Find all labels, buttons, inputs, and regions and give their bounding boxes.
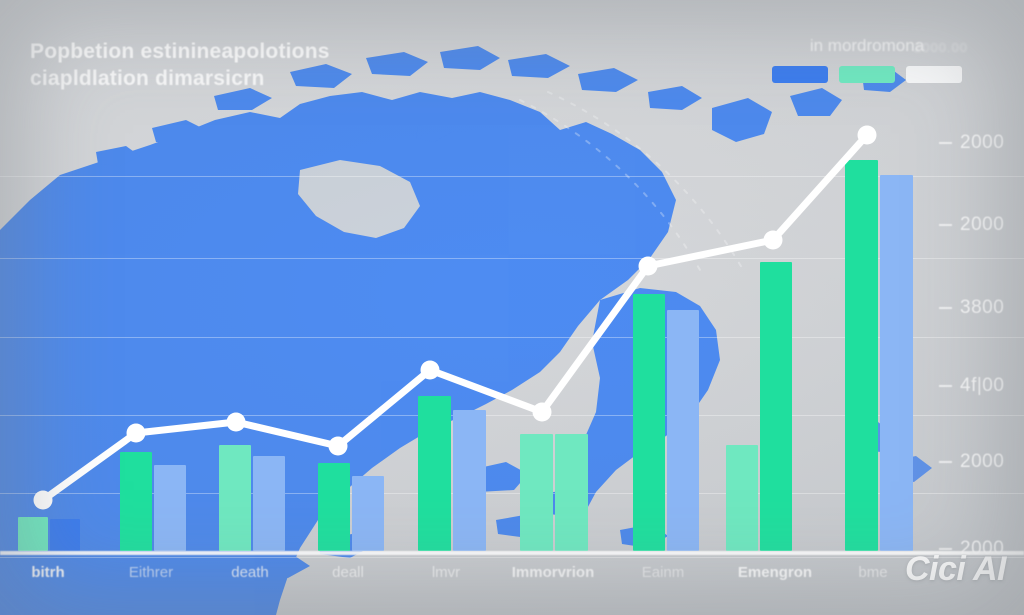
y-axis-tick-dash-3 bbox=[939, 385, 952, 387]
x-axis-label-5: Immorvrion bbox=[512, 564, 595, 581]
x-axis-label-2: death bbox=[231, 564, 269, 581]
legend-swatch-white[interactable] bbox=[906, 66, 962, 83]
chart-title-line1: Popbetion estinineapolotions bbox=[30, 38, 330, 65]
line-marker-7[interactable] bbox=[764, 231, 783, 250]
chart-screenshot: Popbetion estinineapolotions ciapldlatio… bbox=[0, 0, 1024, 615]
y-axis-tick-label-1: 2000 bbox=[960, 214, 1008, 236]
x-axis-label-1: Eithrer bbox=[129, 564, 173, 581]
legend-corner-value: 2000.00 bbox=[914, 40, 968, 55]
line-marker-5[interactable] bbox=[533, 403, 552, 422]
x-axis-label-6: Eainm bbox=[642, 564, 685, 581]
y-axis-tick-dash-2 bbox=[939, 307, 952, 309]
legend: in mordromona 2000.00 bbox=[772, 36, 962, 83]
chart-title: Popbetion estinineapolotions ciapldlatio… bbox=[30, 38, 330, 93]
y-axis-tick-3: 4f|00 bbox=[939, 375, 1008, 397]
x-axis-label-4: lmvr bbox=[432, 564, 460, 581]
y-axis-tick-0: 2000 bbox=[939, 132, 1008, 154]
y-axis-tick-label-0: 2000 bbox=[960, 132, 1008, 154]
y-axis-tick-1: 2000 bbox=[939, 214, 1008, 236]
line-marker-3[interactable] bbox=[329, 437, 348, 456]
legend-swatch-mint[interactable] bbox=[839, 66, 895, 83]
y-axis-tick-dash-4 bbox=[939, 461, 952, 463]
x-axis-label-0: bitrh bbox=[31, 564, 64, 581]
legend-swatch-blue[interactable] bbox=[772, 66, 828, 83]
y-axis-tick-label-4: 2000 bbox=[960, 451, 1008, 473]
line-marker-2[interactable] bbox=[227, 413, 246, 432]
x-axis-label-8: bme bbox=[858, 564, 887, 581]
line-marker-4[interactable] bbox=[421, 361, 440, 380]
y-axis-tick-dash-1 bbox=[939, 224, 952, 226]
watermark: Cici AI bbox=[905, 550, 1006, 589]
x-axis-baseline bbox=[0, 551, 1024, 555]
y-axis-tick-label-3: 4f|00 bbox=[960, 375, 1008, 397]
y-axis-tick-dash-0 bbox=[939, 142, 952, 144]
line-marker-6[interactable] bbox=[639, 257, 658, 276]
y-axis-tick-2: 3800 bbox=[939, 297, 1008, 319]
line-marker-1[interactable] bbox=[127, 424, 146, 443]
legend-swatch-row bbox=[772, 66, 962, 83]
y-axis-tick-4: 2000 bbox=[939, 451, 1008, 473]
line-marker-8[interactable] bbox=[858, 126, 877, 145]
line-marker-0[interactable] bbox=[34, 491, 53, 510]
y-axis-tick-label-2: 3800 bbox=[960, 297, 1008, 319]
chart-title-line2: ciapldlation dimarsicrn bbox=[30, 65, 330, 92]
x-axis-label-7: Emengron bbox=[738, 564, 812, 581]
x-axis-label-3: deall bbox=[332, 564, 364, 581]
